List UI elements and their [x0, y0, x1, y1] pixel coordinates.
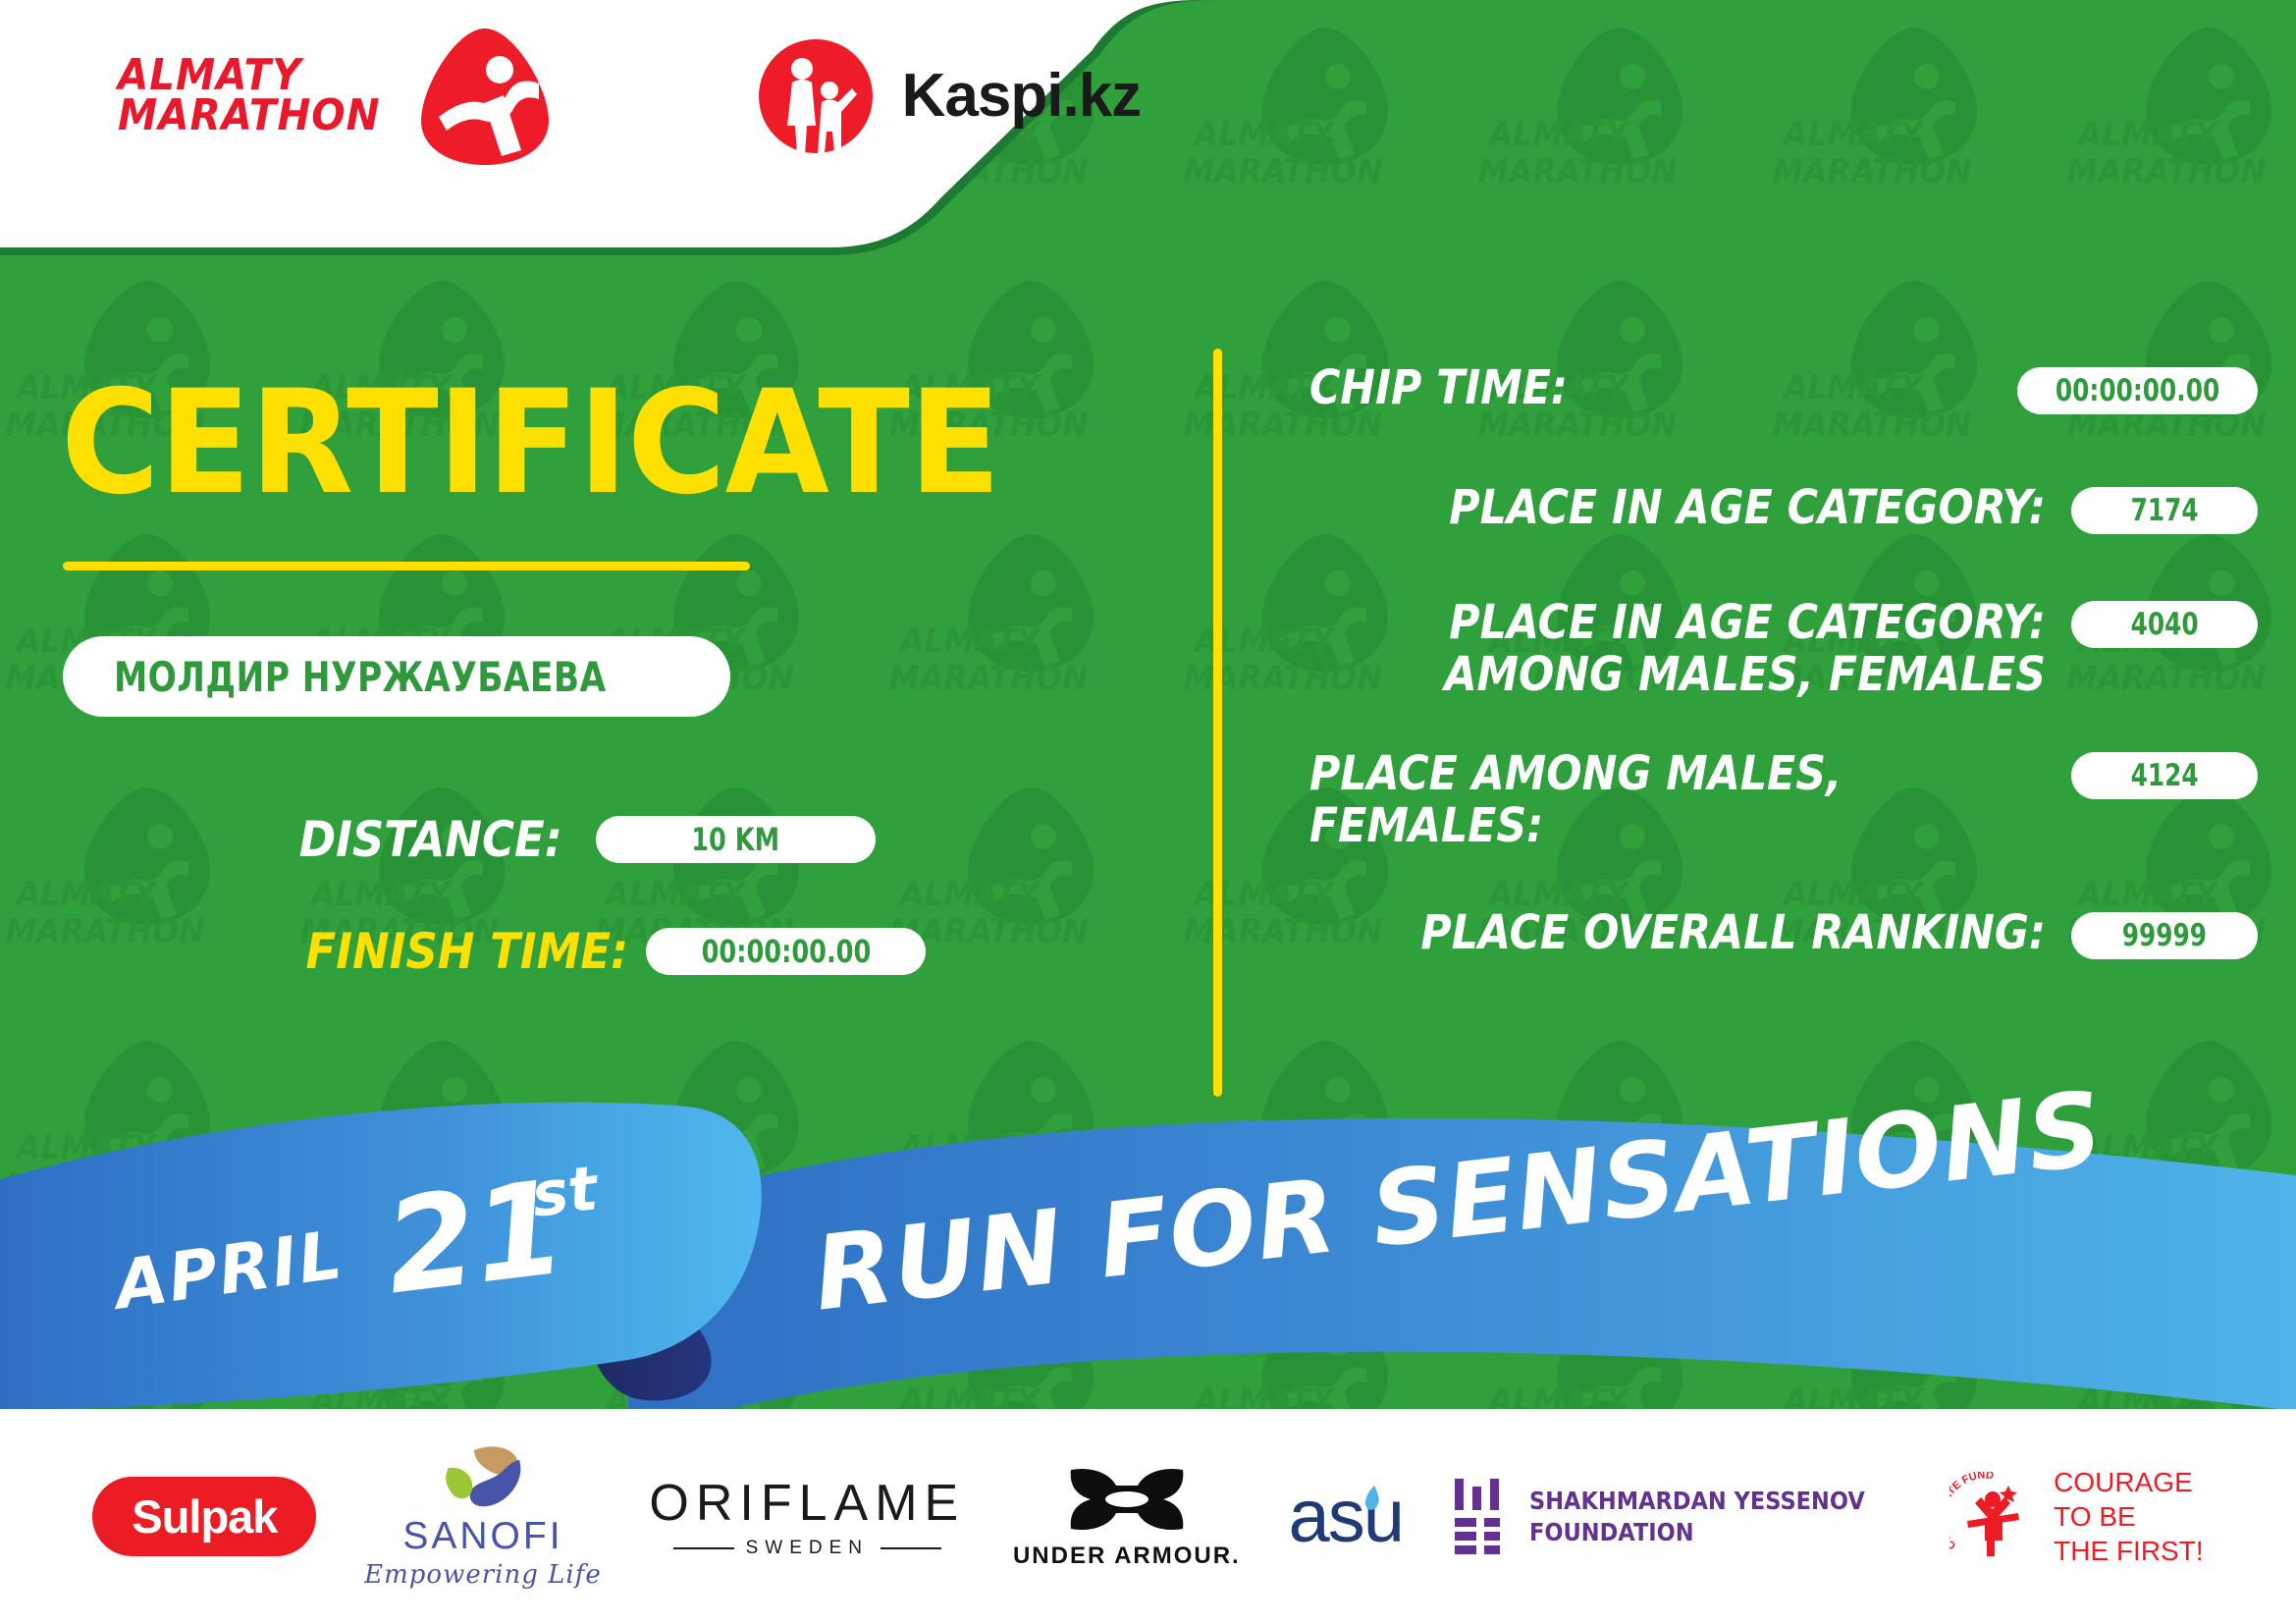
oriflame-wordmark: ORIFLAME: [649, 1474, 965, 1533]
yessenov-line1: SHAKHMARDAN YESSENOV: [1529, 1486, 1865, 1516]
almaty-marathon-droplet-icon: [411, 23, 559, 170]
place-among-males-females-value: 4124: [2130, 758, 2198, 793]
almaty-marathon-line2: MARATHON: [118, 96, 380, 135]
stat-row-place-age-category: PLACE IN AGE CATEGORY: 7174: [1276, 483, 2258, 546]
oriflame-sub: SWEDEN: [673, 1538, 941, 1559]
stat-row-place-overall-ranking: PLACE OVERALL RANKING: 99999: [1276, 908, 2258, 971]
finish-time-label: FINISH TIME:: [306, 923, 629, 980]
sponsor-logo-oriflame: ORIFLAME SWEDEN: [649, 1474, 965, 1559]
stat-row-place-age-category-among: PLACE IN AGE CATEGORY: AMONG MALES, FEMA…: [1276, 597, 2258, 701]
place-age-category-value: 7174: [2130, 493, 2198, 528]
sanofi-wordmark: SANOFI: [402, 1515, 562, 1558]
sponsor-logo-under-armour: UNDER ARMOUR.: [1013, 1464, 1241, 1570]
sponsor-logo-shakhmardan-yessenov-foundation: SHAKHMARDAN YESSENOV FOUNDATION: [1451, 1477, 1902, 1557]
chip-time-value-pill: 00:00:00.00: [2017, 367, 2258, 414]
place-age-category-among-value-pill: 4040: [2071, 601, 2258, 648]
kaspi-figures-icon: [755, 35, 877, 157]
page-title: CERTIFICATE: [61, 371, 1000, 514]
kaspi-kz-wordmark: Kaspi.kz: [902, 61, 1142, 131]
under-armour-wordmark: UNDER ARMOUR.: [1013, 1543, 1241, 1570]
asu-wordmark: asu: [1288, 1474, 1403, 1559]
stat-row-chip-time: CHIP TIME: 00:00:00.00: [1276, 363, 2258, 426]
vertical-divider: [1213, 349, 1222, 1097]
almaty-marathon-wordmark: ALMATY MARATHON: [118, 56, 403, 135]
kaspi-kz-logo: Kaspi.kz: [755, 35, 1142, 157]
sanofi-tagline: Empowering Life: [364, 1560, 602, 1590]
stat-row-place-among-males-females: PLACE AMONG MALES, FEMALES: 4124: [1276, 748, 2258, 854]
sponsor-logo-asu: asu: [1288, 1474, 1403, 1559]
place-age-category-among-label: PLACE IN AGE CATEGORY: AMONG MALES, FEMA…: [1276, 597, 2071, 701]
place-overall-ranking-value-pill: 99999: [2071, 912, 2258, 959]
place-age-category-label: PLACE IN AGE CATEGORY:: [1276, 483, 2071, 534]
yessenov-bars-icon: [1451, 1477, 1508, 1557]
chip-time-value: 00:00:00.00: [2056, 373, 2219, 408]
finish-time-value-pill: 00:00:00.00: [646, 928, 926, 975]
participant-name-value: МОЛДИР НУРЖАУБАЕВА: [114, 653, 607, 701]
sponsor-logo-sulpak: Sulpak: [92, 1477, 316, 1556]
sponsor-logo-sanofi: SANOFI Empowering Life: [364, 1444, 602, 1590]
place-among-males-females-label: PLACE AMONG MALES, FEMALES:: [1276, 748, 2071, 854]
courage-wordmark: COURAGE TO BE THE FIRST!: [2054, 1465, 2203, 1568]
courage-runner-icon: CORPORATE FUND: [1949, 1472, 2040, 1562]
sanofi-mark-icon: [441, 1444, 525, 1513]
oriflame-rule-left: [673, 1547, 734, 1549]
distance-value-pill: 10 KM: [596, 816, 876, 863]
place-among-males-females-value-pill: 4124: [2071, 752, 2258, 799]
place-age-category-among-value: 4040: [2130, 607, 2198, 642]
courage-line2: TO BE: [2054, 1499, 2203, 1534]
courage-line3: THE FIRST!: [2054, 1534, 2203, 1568]
distance-value: 10 KM: [691, 821, 779, 858]
oriflame-tagline: SWEDEN: [746, 1538, 869, 1559]
distance-row: DISTANCE: 10 KM: [270, 811, 876, 868]
asu-droplet-icon: [1362, 1484, 1382, 1517]
finish-time-value: 00:00:00.00: [701, 933, 871, 970]
under-armour-mark-icon: [1065, 1464, 1189, 1535]
sulpak-wordmark: Sulpak: [132, 1489, 277, 1543]
sponsor-logo-courage-to-be-the-first: CORPORATE FUND COURAGE TO BE THE FIRST!: [1949, 1465, 2203, 1568]
finish-time-row: FINISH TIME: 00:00:00.00: [270, 923, 926, 980]
place-overall-ranking-value: 99999: [2122, 918, 2207, 953]
distance-label: DISTANCE:: [299, 811, 562, 868]
brand-row: ALMATY MARATHON Kaspi.kz: [0, 0, 1141, 191]
place-overall-ranking-label: PLACE OVERALL RANKING:: [1276, 908, 2071, 959]
certificate-page: ALMATY MARATHON ALMATY MARATHON: [0, 0, 2296, 1624]
participant-name-field: МОЛДИР НУРЖАУБАЕВА: [63, 636, 730, 717]
courage-line1: COURAGE: [2054, 1465, 2203, 1499]
yessenov-wordmark: SHAKHMARDAN YESSENOV FOUNDATION: [1529, 1486, 1865, 1547]
stats-column: CHIP TIME: 00:00:00.00 PLACE IN AGE CATE…: [1276, 363, 2258, 1004]
chip-time-label: CHIP TIME:: [1276, 363, 2017, 414]
title-underline-rule: [63, 562, 750, 570]
oriflame-rule-right: [881, 1547, 941, 1549]
place-age-category-value-pill: 7174: [2071, 487, 2258, 534]
sponsor-strip: Sulpak SANOFI Empowering Life ORIFLAME S…: [0, 1409, 2296, 1624]
yessenov-line2: FOUNDATION: [1529, 1517, 1865, 1547]
almaty-marathon-logo: ALMATY MARATHON: [118, 23, 559, 170]
